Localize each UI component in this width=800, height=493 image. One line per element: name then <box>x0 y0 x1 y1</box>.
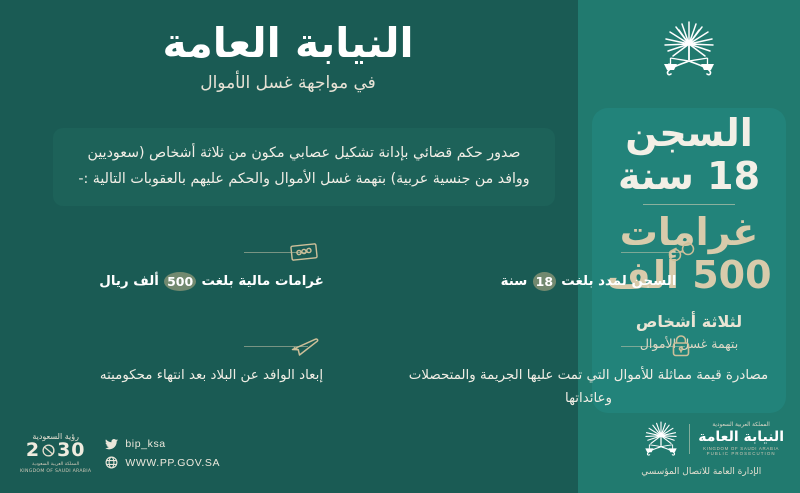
penalty-item-fines: غرامات مالية بلغت 500 ألف ريال <box>30 222 393 300</box>
fines-text-before: غرامات مالية بلغت <box>201 274 323 289</box>
footer-right: المملكة العربية السعودية النيابة العامة … <box>641 417 784 477</box>
penalty-item-head <box>407 332 770 358</box>
vision-2030-logo: رؤية السعودية 2 30 المملكة العربية السعو… <box>20 433 91 475</box>
right-panel-line2: 18 سنة <box>618 155 760 198</box>
org-logo-lockup: المملكة العربية السعودية النيابة العامة … <box>641 417 784 461</box>
penalty-item-deportation: إبعاد الوافد عن البلاد بعد انتهاء محكومي… <box>30 316 393 411</box>
penalty-item-head <box>407 238 770 264</box>
website-url: WWW.PP.GOV.SA <box>125 457 220 469</box>
globe-icon <box>105 456 118 469</box>
website-row[interactable]: WWW.PP.GOV.SA <box>105 456 220 469</box>
penalties-grid: السجن لمدد بلغت 18 سنة غرامات م <box>30 222 770 411</box>
vision-logo-year: 2 30 <box>20 441 91 460</box>
vision-swirl-icon <box>41 443 56 458</box>
penalty-item-prison: السجن لمدد بلغت 18 سنة <box>407 222 770 300</box>
banknote-icon <box>284 238 324 266</box>
twitter-row[interactable]: bip_ksa <box>105 438 220 450</box>
handcuffs-icon <box>661 238 701 266</box>
penalty-item-text: مصادرة قيمة مماثلة للأموال التي تمت عليه… <box>407 364 770 411</box>
page-title: النيابة العامة <box>0 18 576 68</box>
padlock-icon <box>661 332 701 360</box>
airplane-icon <box>284 332 324 360</box>
fines-badge: 500 <box>164 272 196 291</box>
prison-text-after: سنة <box>501 274 528 289</box>
penalty-item-text: إبعاد الوافد عن البلاد بعد انتهاء محكومي… <box>30 364 393 387</box>
saudi-public-prosecution-emblem-small <box>641 417 681 461</box>
infographic-poster: السجن 18 سنة غرامات 500 ألف لثلاثة أشخاص… <box>0 0 800 493</box>
deportation-text: إبعاد الوافد عن البلاد بعد انتهاء محكومي… <box>100 368 323 383</box>
prison-badge: 18 <box>533 272 556 291</box>
org-logo-divider <box>689 424 690 454</box>
title-block: النيابة العامة في مواجهة غسل الأموال <box>0 18 576 93</box>
twitter-handle: bip_ksa <box>125 438 165 450</box>
vision-logo-bottom-en: KINGDOM OF SAUDI ARABIA <box>20 470 91 475</box>
social-links: bip_ksa WWW.PP.GOV.SA <box>105 438 220 469</box>
confiscation-text: مصادرة قيمة مماثلة للأموال التي تمت عليه… <box>409 368 768 406</box>
summary-card: صدور حكم قضائي بإدانة تشكيل عصابي مكون م… <box>53 128 555 206</box>
org-department: الإدارة العامة للاتصال المؤسسي <box>641 467 761 477</box>
penalty-item-head <box>30 238 393 264</box>
org-line-4: PUBLIC PROSECUTION <box>698 451 784 456</box>
twitter-bird-icon <box>105 439 118 450</box>
vision-logo-bottom-ar: المملكة العربية السعودية <box>20 463 91 468</box>
summary-text: صدور حكم قضائي بإدانة تشكيل عصابي مكون م… <box>75 140 533 193</box>
footer-left: رؤية السعودية 2 30 المملكة العربية السعو… <box>20 433 220 475</box>
right-panel-line1: السجن <box>625 112 753 155</box>
org-logo-text: المملكة العربية السعودية النيابة العامة … <box>698 422 784 456</box>
right-panel-divider <box>643 204 735 205</box>
penalty-item-text: السجن لمدد بلغت 18 سنة <box>407 270 770 293</box>
fines-text-after: ألف ريال <box>99 274 159 289</box>
org-line-1: المملكة العربية السعودية <box>698 422 784 428</box>
penalty-item-confiscation: مصادرة قيمة مماثلة للأموال التي تمت عليه… <box>407 316 770 411</box>
page-subtitle: في مواجهة غسل الأموال <box>0 73 576 93</box>
penalty-item-text: غرامات مالية بلغت 500 ألف ريال <box>30 270 393 293</box>
penalty-item-head <box>30 332 393 358</box>
org-line-2: النيابة العامة <box>698 429 784 445</box>
saudi-public-prosecution-emblem <box>658 14 720 84</box>
emblem-container <box>578 14 800 84</box>
prison-text-before: السجن لمدد بلغت <box>561 274 676 289</box>
